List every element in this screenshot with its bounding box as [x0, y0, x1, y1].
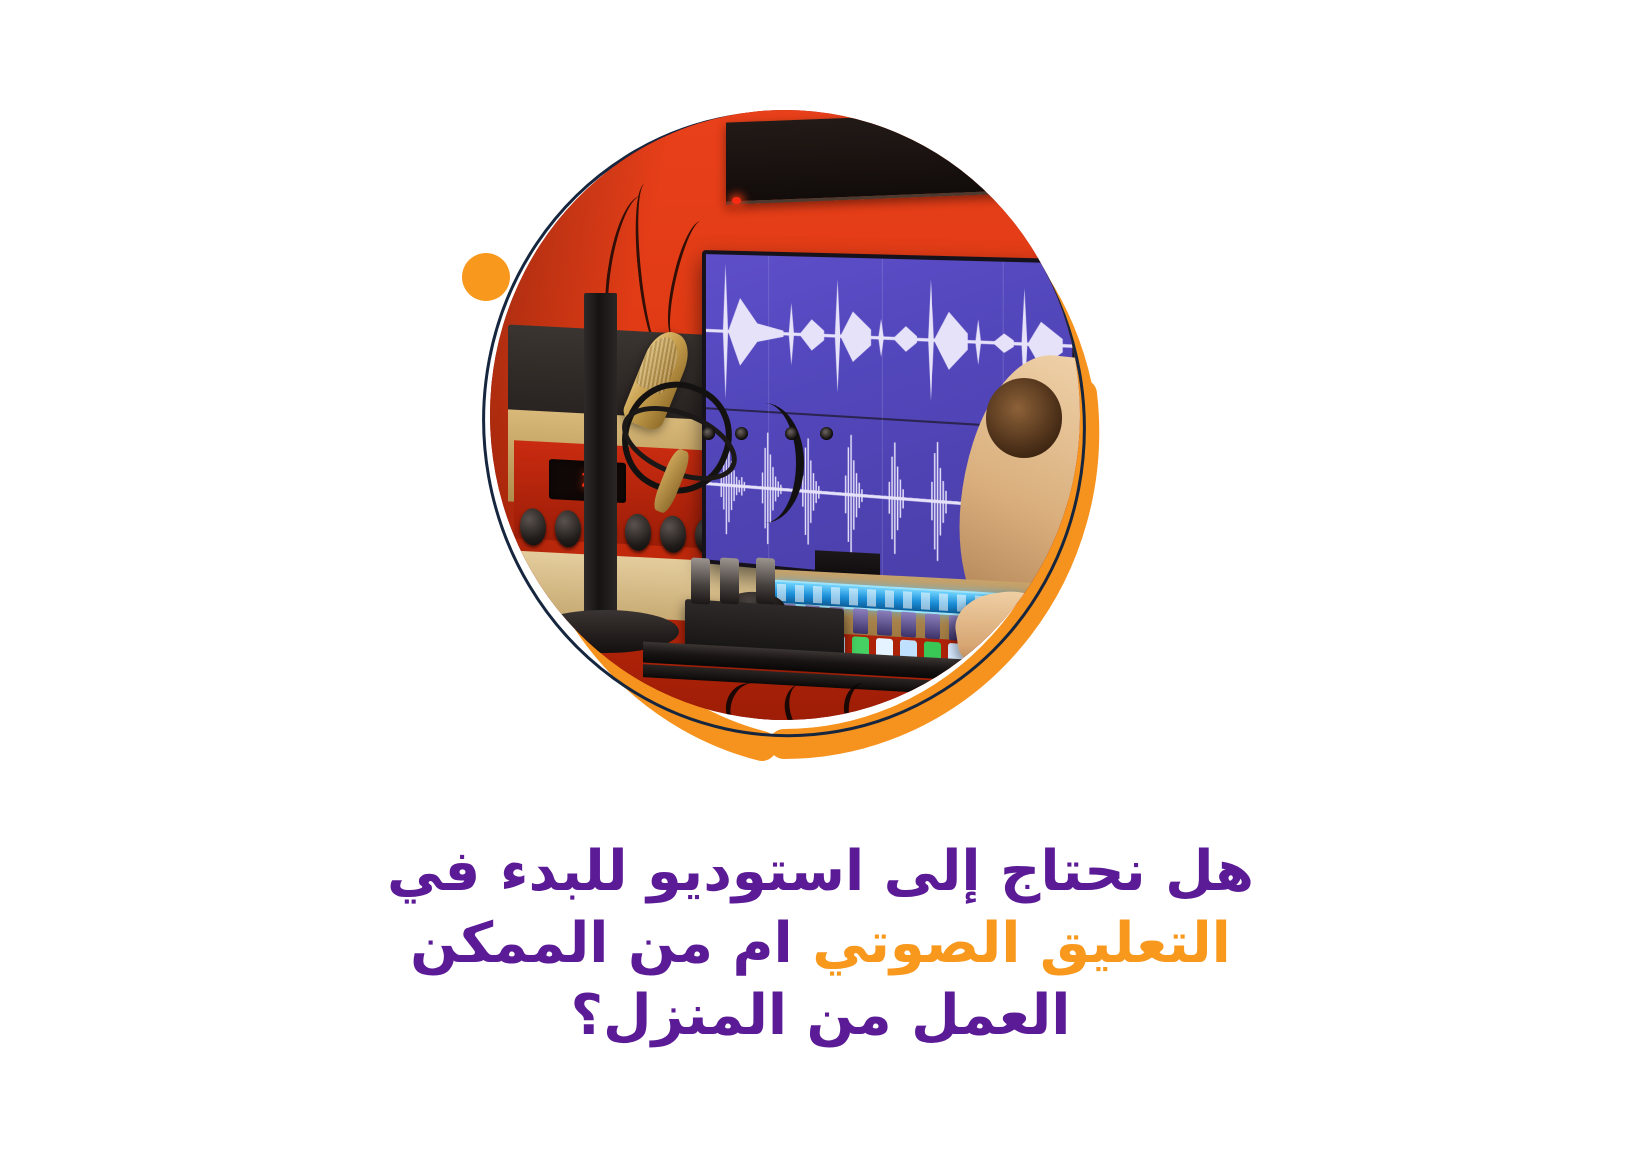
- fader: [899, 612, 918, 662]
- wall-monitor-top: [726, 110, 1068, 205]
- speaker-cone: [986, 378, 1063, 457]
- headline-line-3: العمل من المنزل؟: [0, 980, 1641, 1052]
- studio-photo: 2: [490, 110, 1080, 720]
- fader: [875, 610, 894, 660]
- status-led-icon: [732, 197, 741, 204]
- headline-line-2-highlight: التعليق الصوتي: [812, 911, 1231, 976]
- headline-line-1: هل نحتاج إلى استوديو للبدء في: [0, 836, 1641, 908]
- knob-icon: [554, 509, 580, 547]
- mic-stand: [584, 293, 616, 629]
- console-post: [756, 558, 775, 605]
- headline-line-3-text: العمل من المنزل؟: [571, 983, 1071, 1048]
- headline-line-2: التعليق الصوتي ام من الممكن: [0, 908, 1641, 980]
- hero-photo-circle: 2: [490, 110, 1080, 720]
- console-post: [720, 558, 739, 605]
- fader: [851, 608, 870, 658]
- jack-port-icon: [735, 427, 748, 440]
- knob-icon: [519, 507, 545, 545]
- console-post: [691, 558, 710, 605]
- fader: [923, 613, 942, 663]
- poster-canvas: 2: [0, 0, 1641, 1175]
- headline-line-2-text: ام من الممكن: [410, 911, 812, 976]
- headline: هل نحتاج إلى استوديو للبدء في التعليق ال…: [0, 836, 1641, 1052]
- headline-line-1-text: هل نحتاج إلى استوديو للبدء في: [387, 839, 1254, 904]
- hero-artwork: 2: [432, 72, 1132, 772]
